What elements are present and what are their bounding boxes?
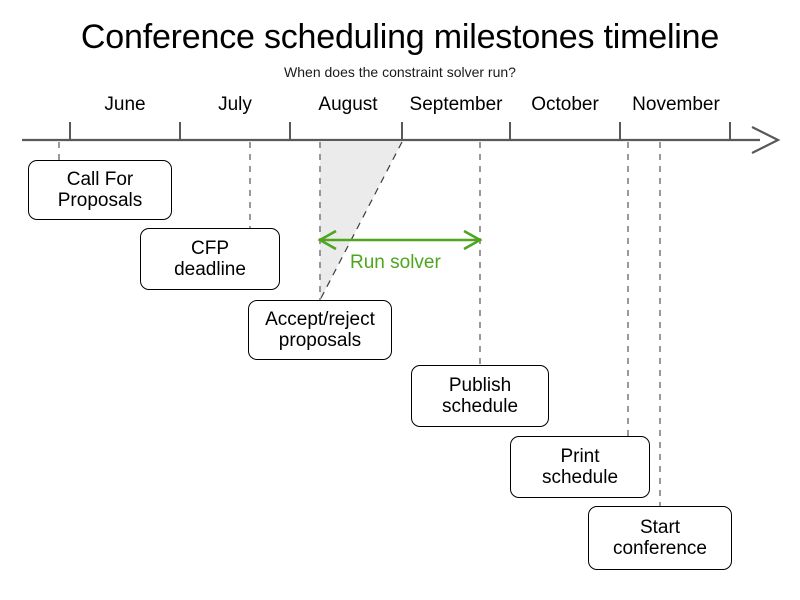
timeline-slide: Conference scheduling milestones timelin…	[0, 0, 800, 600]
callout-line-2: proposals	[279, 330, 361, 351]
month-label-september: September	[410, 94, 503, 116]
callout-line-1: CFP	[191, 238, 229, 259]
callout-line-2: schedule	[442, 396, 518, 417]
callout-line-2: conference	[613, 538, 707, 559]
callout-line-1: Accept/reject	[265, 309, 375, 330]
milestone-call-for-proposals[interactable]: Call ForProposals	[28, 160, 172, 220]
callout-line-1: Publish	[449, 375, 511, 396]
callout-line-2: schedule	[542, 467, 618, 488]
callout-line-1: Start	[640, 517, 680, 538]
callout-line-2: Proposals	[58, 190, 143, 211]
axis-group	[22, 122, 778, 153]
month-label-july: July	[218, 94, 252, 116]
callout-line-1: Call For	[67, 169, 134, 190]
milestone-print-schedule[interactable]: Printschedule	[510, 436, 650, 498]
month-label-august: August	[318, 94, 377, 116]
callout-line-2: deadline	[174, 259, 246, 280]
milestone-accept-reject-proposals[interactable]: Accept/rejectproposals	[248, 300, 392, 360]
month-label-june: June	[104, 94, 145, 116]
month-label-november: November	[632, 94, 720, 116]
milestone-cfp-deadline[interactable]: CFPdeadline	[140, 228, 280, 290]
run-solver-label: Run solver	[350, 252, 441, 274]
month-label-october: October	[531, 94, 599, 116]
milestone-publish-schedule[interactable]: Publishschedule	[411, 365, 549, 427]
milestone-start-conference[interactable]: Startconference	[588, 506, 732, 570]
callout-line-1: Print	[560, 446, 599, 467]
